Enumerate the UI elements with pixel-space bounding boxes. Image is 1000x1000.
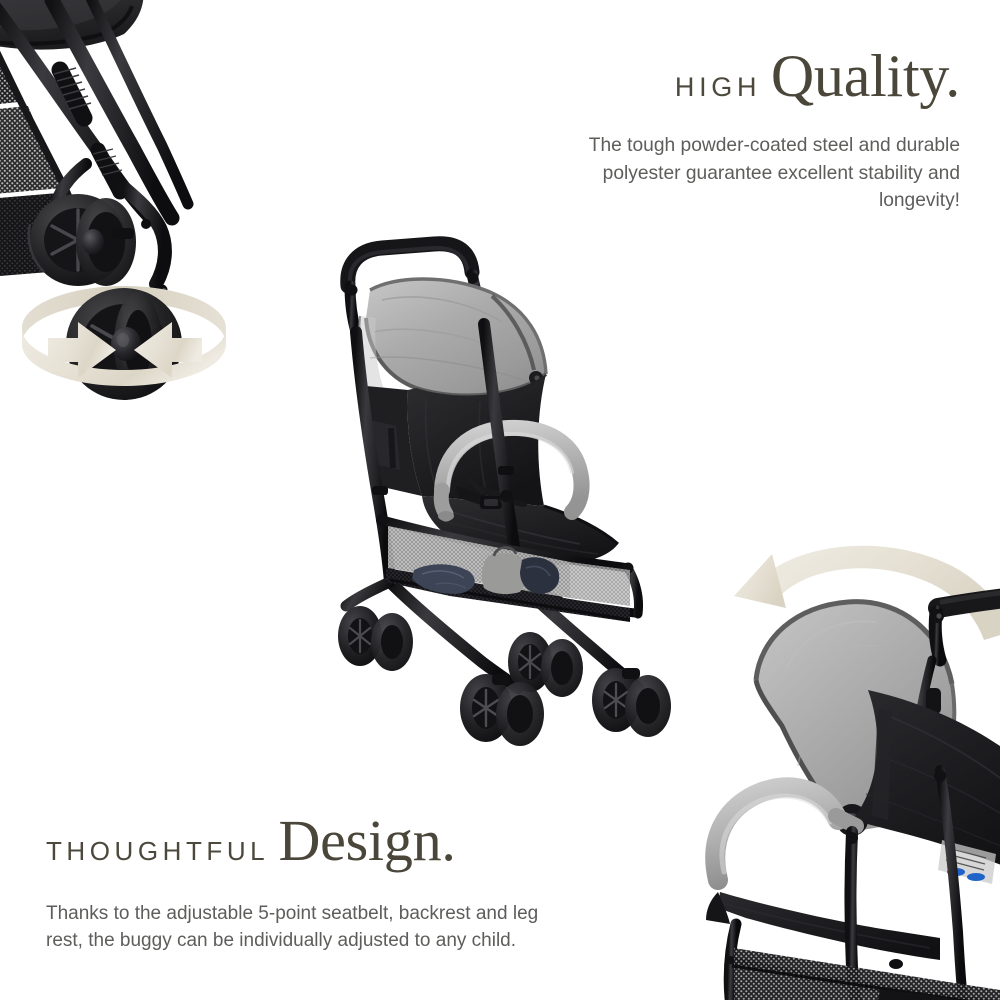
design-emphasis: Design.	[278, 808, 455, 873]
sun-canopy	[366, 279, 546, 396]
quality-headline: HIGHQuality.	[530, 46, 960, 106]
infographic-canvas: HIGHQuality. The tough powder-coated ste…	[0, 0, 1000, 1000]
design-kicker: THOUGHTFUL	[46, 836, 269, 866]
feature-block-quality: HIGHQuality. The tough powder-coated ste…	[530, 46, 960, 215]
design-headline: THOUGHTFULDesign.	[46, 812, 546, 870]
photo-recline-detail	[700, 520, 1000, 1000]
photo-main-stroller	[330, 238, 696, 766]
recline-bumper-bar	[715, 787, 856, 880]
front-wheel-upper	[29, 194, 136, 286]
wheel-front-right	[592, 668, 671, 737]
feature-block-design: THOUGHTFULDesign. Thanks to the adjustab…	[46, 812, 546, 954]
wheel-rear-left	[338, 606, 413, 671]
quality-emphasis: Quality.	[771, 43, 960, 109]
quality-kicker: HIGH	[675, 72, 761, 102]
recline-arrowhead	[734, 554, 786, 608]
photo-wheel-swivel-detail	[0, 0, 296, 442]
design-body-text: Thanks to the adjustable 5-point seatbel…	[46, 900, 546, 954]
quality-body-text: The tough powder-coated steel and durabl…	[530, 132, 960, 215]
